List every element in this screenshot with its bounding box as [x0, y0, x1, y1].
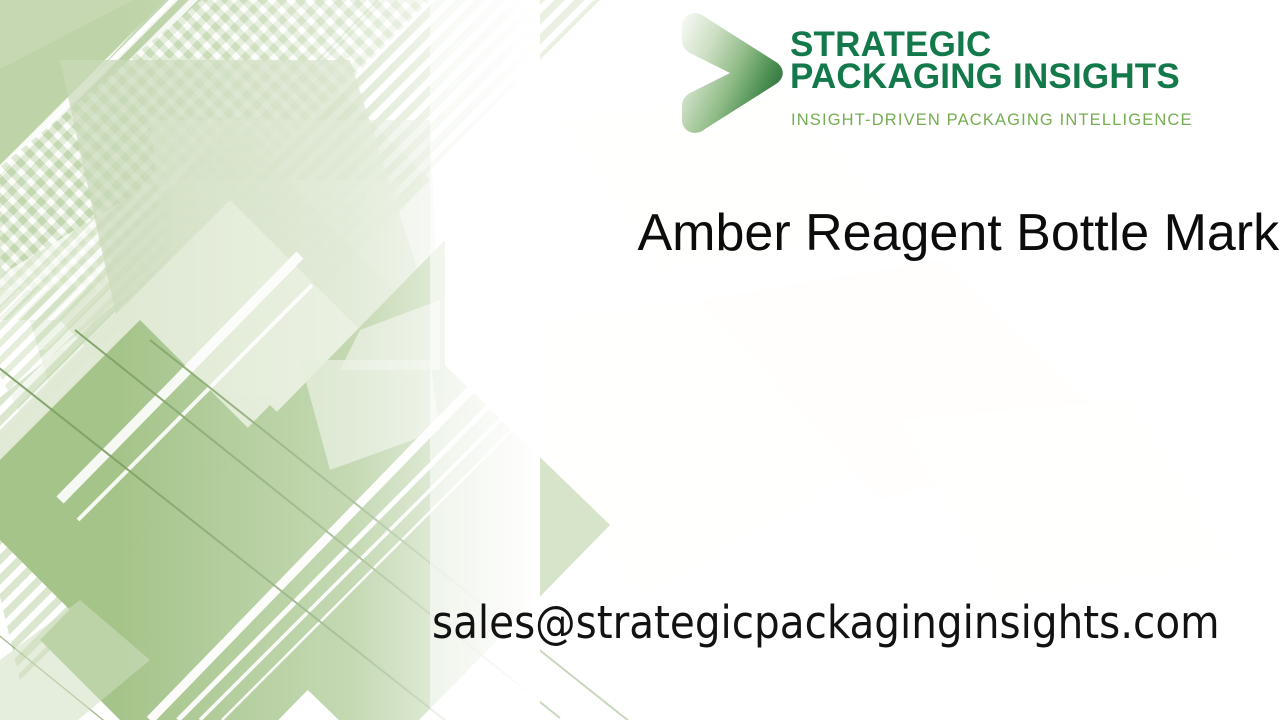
logo-line-2: PACKAGING INSIGHTS	[790, 58, 1180, 96]
page-title: Amber Reagent Bottle Market	[560, 206, 1280, 260]
company-logo: STRATEGIC PACKAGING INSIGHTS INSIGHT-DRI…	[676, 6, 1192, 142]
logo-wordmark: STRATEGIC PACKAGING INSIGHTS INSIGHT-DRI…	[790, 6, 1190, 142]
logo-tagline: INSIGHT-DRIVEN PACKAGING INTELLIGENCE	[791, 111, 1193, 130]
chevron-arrow-mark-icon	[676, 10, 784, 136]
contact-email[interactable]: sales@strategicpackaginginsights.com	[432, 598, 1220, 648]
title-slide: STRATEGIC PACKAGING INSIGHTS INSIGHT-DRI…	[0, 0, 1280, 720]
